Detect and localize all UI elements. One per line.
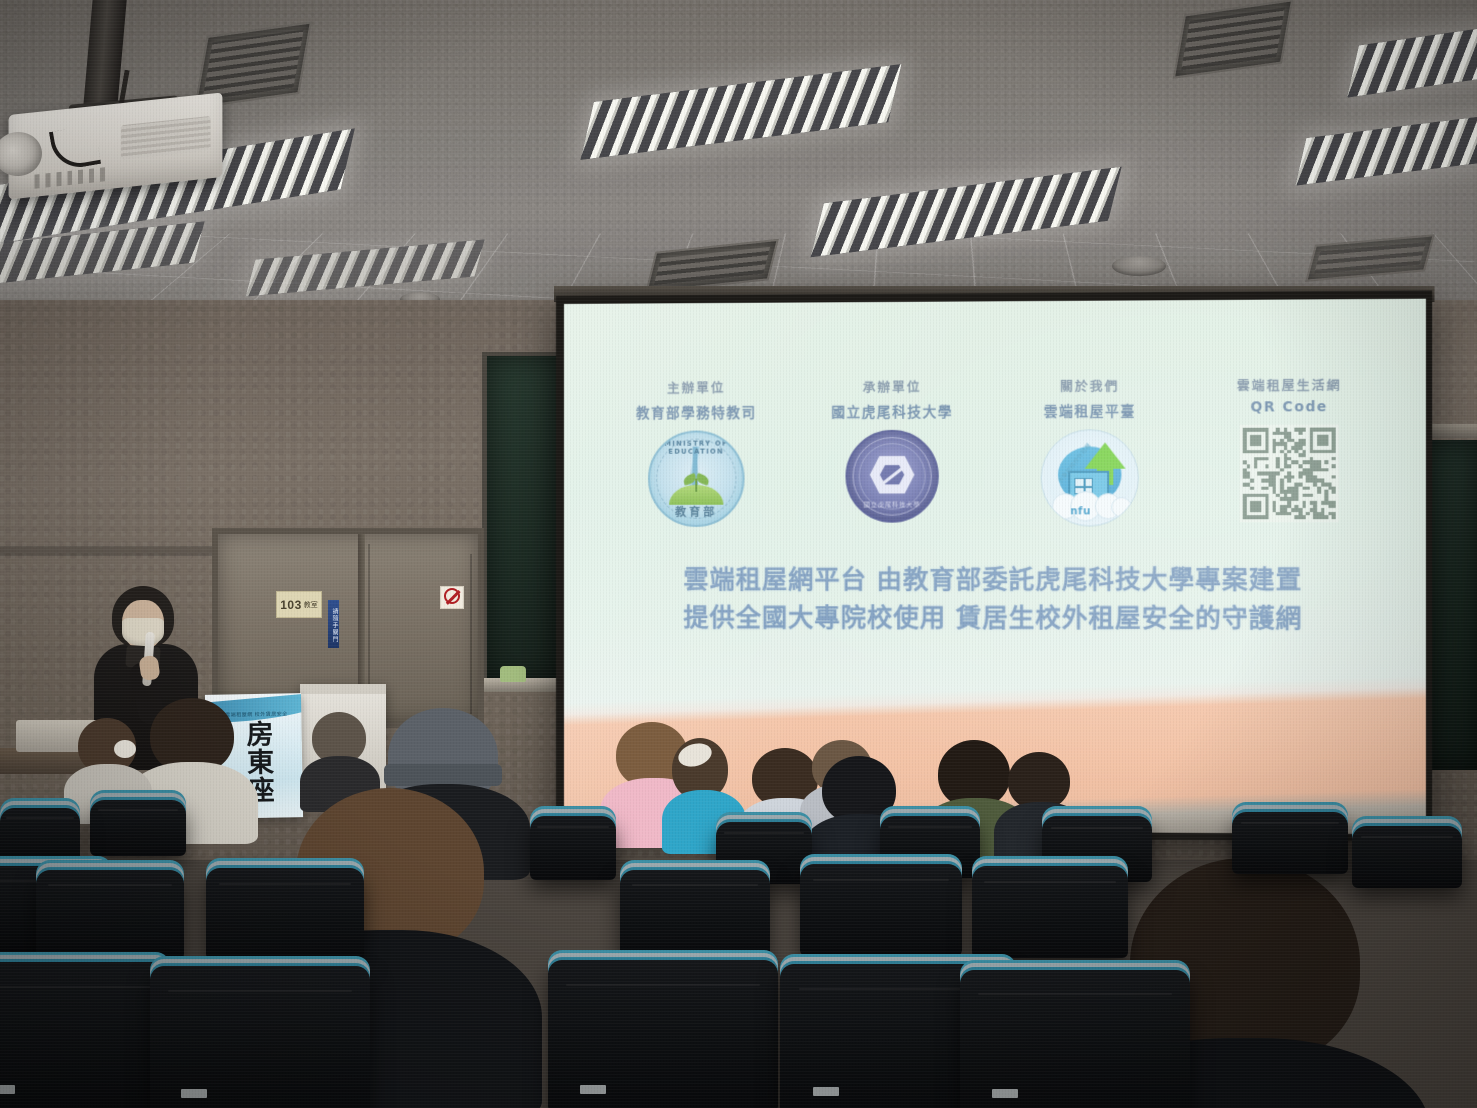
- auditorium-seat[interactable]: [972, 866, 1128, 958]
- no-smoking-icon: [440, 586, 464, 609]
- auditorium-seat[interactable]: [620, 870, 770, 960]
- logo-caption-bottom: 雲端租屋平臺: [1013, 400, 1167, 421]
- auditorium-seat[interactable]: [0, 962, 170, 1108]
- room-number-sign: 103 教室: [276, 591, 322, 618]
- logo-block-qrcode: 雲端租屋生活網 QR Code: [1212, 374, 1367, 522]
- logo-block-executor: 承辦單位 國立虎尾科技大學 國立虎尾科技大學: [816, 376, 968, 527]
- auditorium-seat[interactable]: [90, 800, 186, 856]
- logo-caption-bottom: QR Code: [1212, 399, 1367, 416]
- logo-caption-top: 雲端租屋生活網: [1212, 374, 1367, 394]
- auditorium-seat[interactable]: [960, 970, 1190, 1108]
- moe-ring-text-en: MINISTRY OF EDUCATION: [650, 439, 742, 455]
- logo-wordmark: nfu: [1070, 506, 1091, 517]
- logo-caption-top: 關於我們: [1013, 375, 1167, 395]
- logo-caption-top: 承辦單位: [816, 376, 968, 396]
- auditorium-seat[interactable]: [1352, 826, 1462, 888]
- slide-body-line-2: 提供全國大專院校使用 賃居生校外租屋安全的守護網: [683, 599, 1302, 638]
- door-notice-plate: 請隨手關門: [328, 600, 339, 648]
- nfu-seal-text: 國立虎尾科技大學: [848, 499, 937, 508]
- slide-body-line-1: 雲端租屋網平台 由教育部委託虎尾科技大學專案建置: [683, 561, 1302, 599]
- auditorium-seat[interactable]: [800, 864, 962, 956]
- auditorium-seat[interactable]: [0, 808, 80, 866]
- auditorium-seat[interactable]: [548, 960, 778, 1108]
- logo-caption-bottom: 國立虎尾科技大學: [816, 400, 968, 421]
- qr-code-icon: [1240, 424, 1339, 522]
- auditorium-seat[interactable]: [530, 816, 616, 880]
- cloud-house-logo-icon: nfu 大專校院校外租屋: [1041, 429, 1139, 526]
- logo-caption-top: 主辦單位: [621, 377, 772, 397]
- projector-vent-grill: [121, 116, 211, 160]
- lecture-hall-photo: 103 教室 請隨手關門 主辦單位 教育部學務特教司: [0, 0, 1477, 1108]
- logo-caption-bottom: 教育部學務特教司: [621, 401, 772, 422]
- logo-block-about-us: 關於我們 雲端租屋平臺 nfu 大專校院校外租屋: [1013, 375, 1167, 526]
- projector-ports: [34, 167, 106, 189]
- logo-row: 主辦單位 教育部學務特教司 MINISTRY OF EDUCATION 教育部: [564, 374, 1426, 527]
- audience-area: [0, 680, 1477, 1108]
- chalkboard-left: [482, 352, 560, 682]
- slide-body-text: 雲端租屋網平台 由教育部委託虎尾科技大學專案建置 提供全國大專院校使用 賃居生校…: [683, 561, 1302, 637]
- presenter-hand: [138, 655, 160, 681]
- auditorium-seat[interactable]: [36, 870, 184, 960]
- auditorium-seat[interactable]: [1232, 812, 1348, 874]
- moe-ring-text-zh: 教育部: [650, 504, 742, 520]
- auditorium-seat[interactable]: [206, 868, 364, 960]
- room-number: 103: [280, 598, 302, 612]
- auditorium-seat[interactable]: [150, 966, 370, 1108]
- nfu-seal-icon: 國立虎尾科技大學: [843, 430, 940, 527]
- ceiling-speaker: [1112, 256, 1166, 276]
- room-label: 教室: [304, 600, 318, 610]
- qr-code-matrix: [1243, 428, 1336, 520]
- face-mask-icon: [122, 618, 164, 646]
- logo-block-organizer: 主辦單位 教育部學務特教司 MINISTRY OF EDUCATION 教育部: [621, 377, 772, 527]
- moe-emblem-icon: MINISTRY OF EDUCATION 教育部: [648, 430, 744, 527]
